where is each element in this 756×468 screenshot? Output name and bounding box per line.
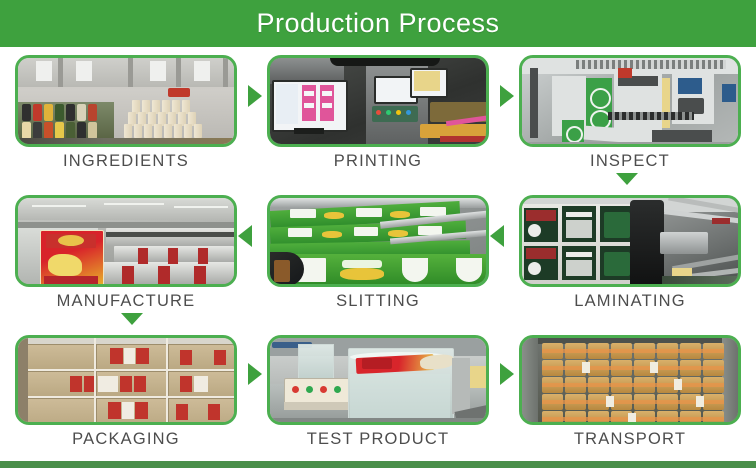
production-process-infographic: Production Process [0,0,756,468]
step-card-manufacture[interactable]: 6 [15,195,237,287]
arrow-left-5-to-6 [238,225,252,247]
photo-ingredients [18,58,234,144]
step-cell-ingredients: 1 INGREDIENTS [0,47,252,187]
step-label-packaging: PACKAGING [0,430,252,449]
photo-printing [270,58,486,144]
step-card-printing[interactable]: 2 [267,55,489,147]
step-label-laminating: LAMINATING [504,292,756,311]
step-cell-packaging: 7 PACKAGING [0,327,252,461]
step-cell-manufacture: 6 MANUFACTURE [0,187,252,327]
step-card-ingredients[interactable]: 1 [15,55,237,147]
arrow-down-3-to-4 [616,173,638,185]
arrow-left-4-to-5 [490,225,504,247]
step-label-transport: TRANSPORT [504,430,756,449]
step-card-slitting[interactable]: 5 [267,195,489,287]
arrow-right-8-to-9 [500,363,514,385]
photo-transport [522,338,738,422]
step-cell-inspect: 3 INSPECT [504,47,756,187]
step-card-transport[interactable]: 9 [519,335,741,425]
step-cell-test-product: 8 TEST PRODUCT [252,327,504,461]
step-card-test-product[interactable]: 8 [267,335,489,425]
page-header: Production Process [0,0,756,47]
step-label-manufacture: MANUFACTURE [0,292,252,311]
photo-manufacture [18,198,234,284]
arrow-right-7-to-8 [248,363,262,385]
photo-slitting [270,198,486,284]
process-row-2: 6 MANUFACTURE [0,187,756,327]
process-row-3: 7 PACKAGING [0,327,756,461]
process-row-1: 1 INGREDIENTS [0,47,756,187]
page-title: Production Process [256,8,499,39]
step-label-printing: PRINTING [252,152,504,171]
arrow-right-2-to-3 [500,85,514,107]
step-cell-transport: 9 TRANSPORT [504,327,756,461]
step-card-inspect[interactable]: 3 [519,55,741,147]
step-label-inspect: INSPECT [504,152,756,171]
step-label-test-product: TEST PRODUCT [252,430,504,449]
step-cell-laminating: 4 LAMINATING [504,187,756,327]
step-label-ingredients: INGREDIENTS [0,152,252,171]
bottom-accent-bar [0,461,756,468]
arrow-right-1-to-2 [248,85,262,107]
step-card-packaging[interactable]: 7 [15,335,237,425]
photo-inspect [522,58,738,144]
step-cell-printing: 2 PRINTING [252,47,504,187]
step-cell-slitting: 5 SLITTING [252,187,504,327]
photo-test-product [270,338,486,422]
step-card-laminating[interactable]: 4 [519,195,741,287]
step-label-slitting: SLITTING [252,292,504,311]
photo-packaging [18,338,234,422]
photo-laminating [522,198,738,284]
arrow-down-6-to-7 [121,313,143,325]
